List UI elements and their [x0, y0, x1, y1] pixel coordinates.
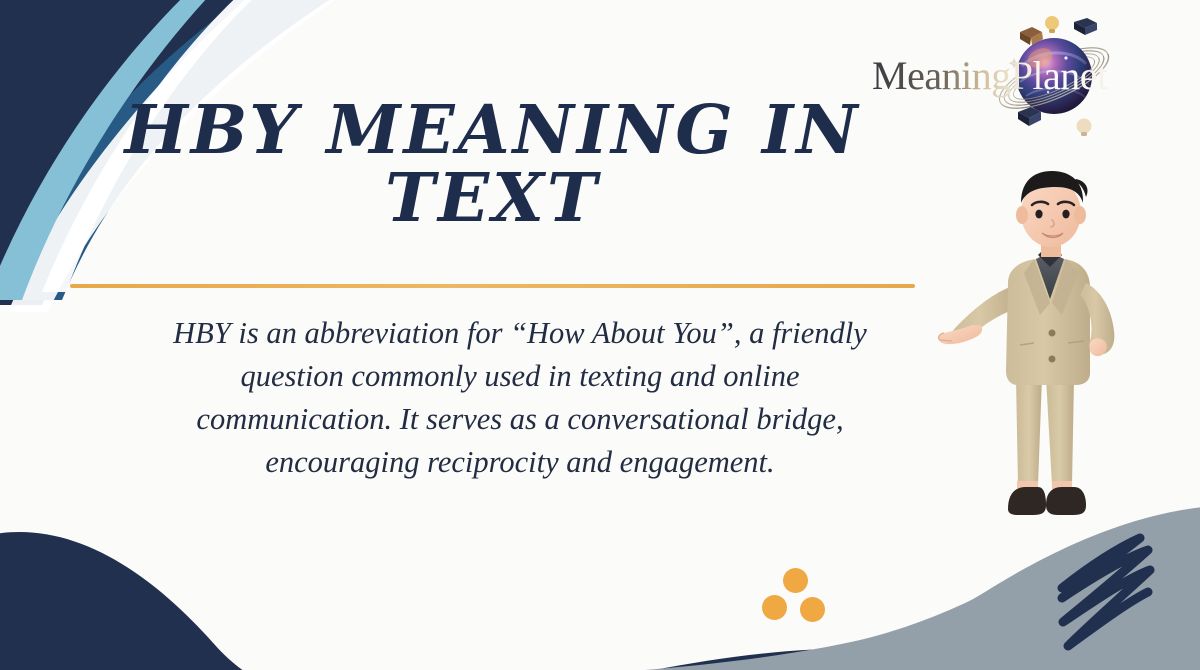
gold-divider	[70, 284, 915, 288]
brand-logo[interactable]: MeaningPlanet	[872, 4, 1192, 154]
suit-jacket	[1006, 249, 1090, 385]
bottom-wave-extension	[0, 532, 1200, 670]
page-title: HBY Meaning in Text	[70, 96, 915, 233]
legs	[1016, 377, 1074, 489]
lightbulb-icon-bottom	[1077, 119, 1092, 137]
dot-left-icon	[762, 595, 787, 620]
shoes	[1008, 487, 1086, 515]
brand-wordmark: MeaningPlanet	[872, 52, 1192, 99]
lightbulb-icon-top	[1045, 16, 1059, 33]
dot-top-icon	[783, 568, 808, 593]
eye-left	[1035, 210, 1042, 219]
head	[1016, 171, 1088, 247]
poster-canvas: HBY Meaning in Text HBY is an abbreviati…	[0, 0, 1200, 670]
bottom-left-wave-icon	[0, 538, 400, 670]
book-icon-top-right	[1074, 18, 1097, 35]
definition-paragraph: HBY is an abbreviation for “How About Yo…	[140, 312, 900, 484]
jacket-button-top	[1049, 330, 1056, 337]
gesturing-arm	[939, 287, 1016, 344]
orange-dots-cluster	[762, 568, 832, 638]
dot-right-icon	[800, 597, 825, 622]
bottom-right-wave-icon	[620, 512, 1200, 670]
businessman-presenting-illustration	[938, 165, 1153, 535]
jacket-button-bottom	[1049, 356, 1056, 363]
eye-right	[1062, 210, 1069, 219]
navy-scribble-icon	[1062, 538, 1150, 646]
